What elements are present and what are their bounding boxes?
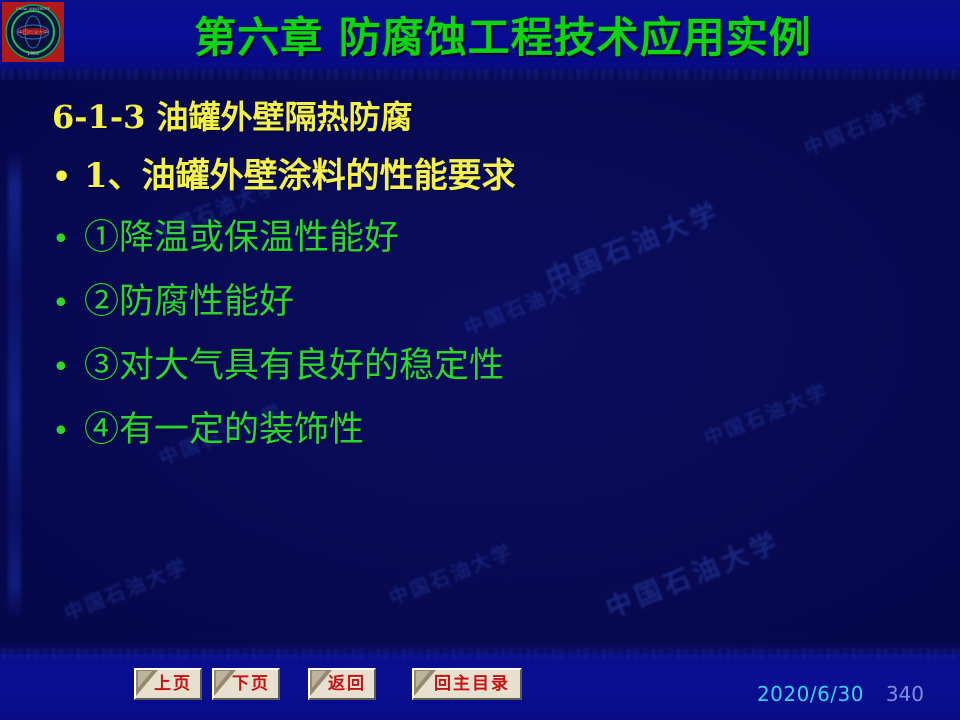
content-subheading-text: 1、油罐外壁涂料的性能要求 — [78, 148, 516, 197]
bullet-icon: • — [52, 289, 78, 319]
list-item-text: ④有一定的装饰性 — [78, 401, 364, 452]
next-page-label: 下页 — [214, 670, 278, 698]
main-menu-label: 回主目录 — [414, 670, 520, 698]
main-menu-button[interactable]: 回主目录 — [412, 668, 522, 700]
slide-page-number: 340 — [886, 682, 924, 706]
bullet-icon: • — [52, 353, 78, 383]
list-item: • ③对大气具有良好的稳定性 — [52, 337, 912, 388]
bullet-icon: • — [52, 163, 78, 193]
bullet-icon: • — [52, 225, 78, 255]
back-button[interactable]: 返回 — [308, 668, 376, 700]
content-heading-text: 6-1-3 油罐外壁隔热防腐 — [52, 92, 413, 138]
back-label: 返回 — [310, 670, 374, 698]
content-subheading: • 1、油罐外壁涂料的性能要求 — [52, 148, 912, 197]
content-heading: 6-1-3 油罐外壁隔热防腐 — [52, 92, 912, 138]
list-item: • ①降温或保温性能好 — [52, 209, 912, 260]
list-item: • ②防腐性能好 — [52, 273, 912, 324]
navigation-bar: 上页 下页 返回 回主目录 2020/6/30 340 — [0, 654, 960, 720]
list-item-text: ①降温或保温性能好 — [78, 209, 399, 260]
scan-artifact-top — [0, 69, 960, 80]
page-title: 第六章 防腐蚀工程技术应用实例 — [0, 4, 960, 65]
next-page-button[interactable]: 下页 — [212, 668, 280, 700]
list-item-text: ③对大气具有良好的稳定性 — [78, 337, 504, 388]
list-item: • ④有一定的装饰性 — [52, 401, 912, 452]
presentation-slide: 中国石油大学 中国石油大学 中国石油大学 中国石油大学 中国石油大学 中国石油大… — [0, 0, 960, 720]
bullet-icon: • — [52, 417, 78, 447]
slide-date: 2020/6/30 — [757, 682, 864, 706]
previous-page-label: 上页 — [136, 670, 200, 698]
list-item-text: ②防腐性能好 — [78, 273, 294, 324]
slide-content: 6-1-3 油罐外壁隔热防腐 • 1、油罐外壁涂料的性能要求 • ①降温或保温性… — [52, 92, 912, 465]
scan-artifact-left-streak — [8, 150, 21, 620]
previous-page-button[interactable]: 上页 — [134, 668, 202, 700]
